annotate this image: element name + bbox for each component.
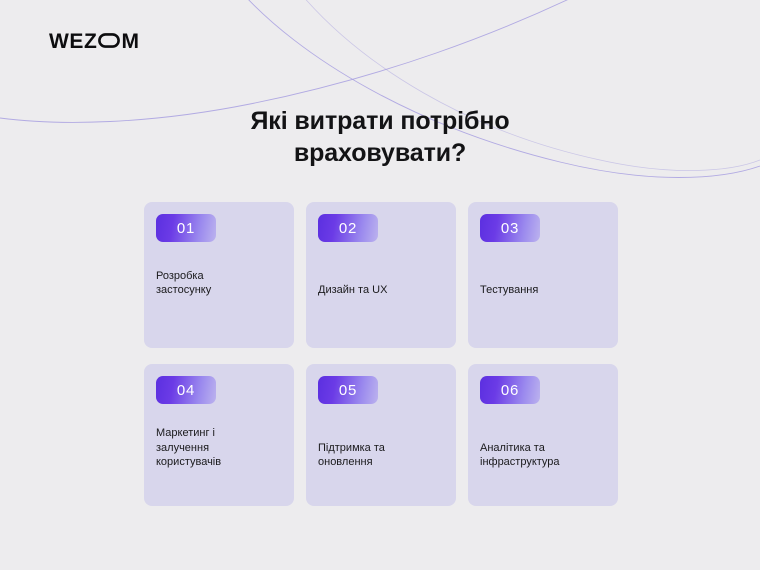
cost-card-03[interactable]: 03 Тестування <box>468 202 618 348</box>
cost-card-06[interactable]: 06 Аналітика та інфраструктура <box>468 364 618 506</box>
card-number-04: 04 <box>177 383 195 398</box>
wezom-logo: WEZ M <box>49 31 140 52</box>
title-line-2: враховувати? <box>0 138 760 170</box>
card-label-03: Тестування <box>480 283 606 336</box>
slide: WEZ M Які витрати потрібно враховувати? … <box>0 0 760 570</box>
card-label-02: Дизайн та UX <box>318 283 444 336</box>
logo-text-after-o: M <box>121 31 139 52</box>
title-line-1: Які витрати потрібно <box>0 106 760 138</box>
card-number-02: 02 <box>339 221 357 236</box>
card-label-05: Підтримка та оновлення <box>318 441 444 494</box>
logo-text-before-o: WEZ <box>49 31 97 52</box>
cost-card-04[interactable]: 04 Маркетинг і залучення користувачів <box>144 364 294 506</box>
card-number-badge-01: 01 <box>156 214 216 242</box>
card-number-06: 06 <box>501 383 519 398</box>
slide-title: Які витрати потрібно враховувати? <box>0 106 760 169</box>
card-number-badge-05: 05 <box>318 376 378 404</box>
card-number-badge-06: 06 <box>480 376 540 404</box>
cost-card-05[interactable]: 05 Підтримка та оновлення <box>306 364 456 506</box>
card-number-01: 01 <box>177 221 195 236</box>
cost-card-02[interactable]: 02 Дизайн та UX <box>306 202 456 348</box>
curve-upper <box>0 0 600 122</box>
card-label-01: Розробка застосунку <box>156 269 282 336</box>
card-number-badge-04: 04 <box>156 376 216 404</box>
card-label-06: Аналітика та інфраструктура <box>480 441 606 494</box>
card-number-05: 05 <box>339 383 357 398</box>
cost-items-grid: 01 Розробка застосунку 02 Дизайн та UX 0… <box>144 202 618 506</box>
card-number-badge-02: 02 <box>318 214 378 242</box>
cost-card-01[interactable]: 01 Розробка застосунку <box>144 202 294 348</box>
logo-o-capsule-icon <box>98 31 120 52</box>
card-number-badge-03: 03 <box>480 214 540 242</box>
card-number-03: 03 <box>501 221 519 236</box>
card-label-04: Маркетинг і залучення користувачів <box>156 426 282 494</box>
